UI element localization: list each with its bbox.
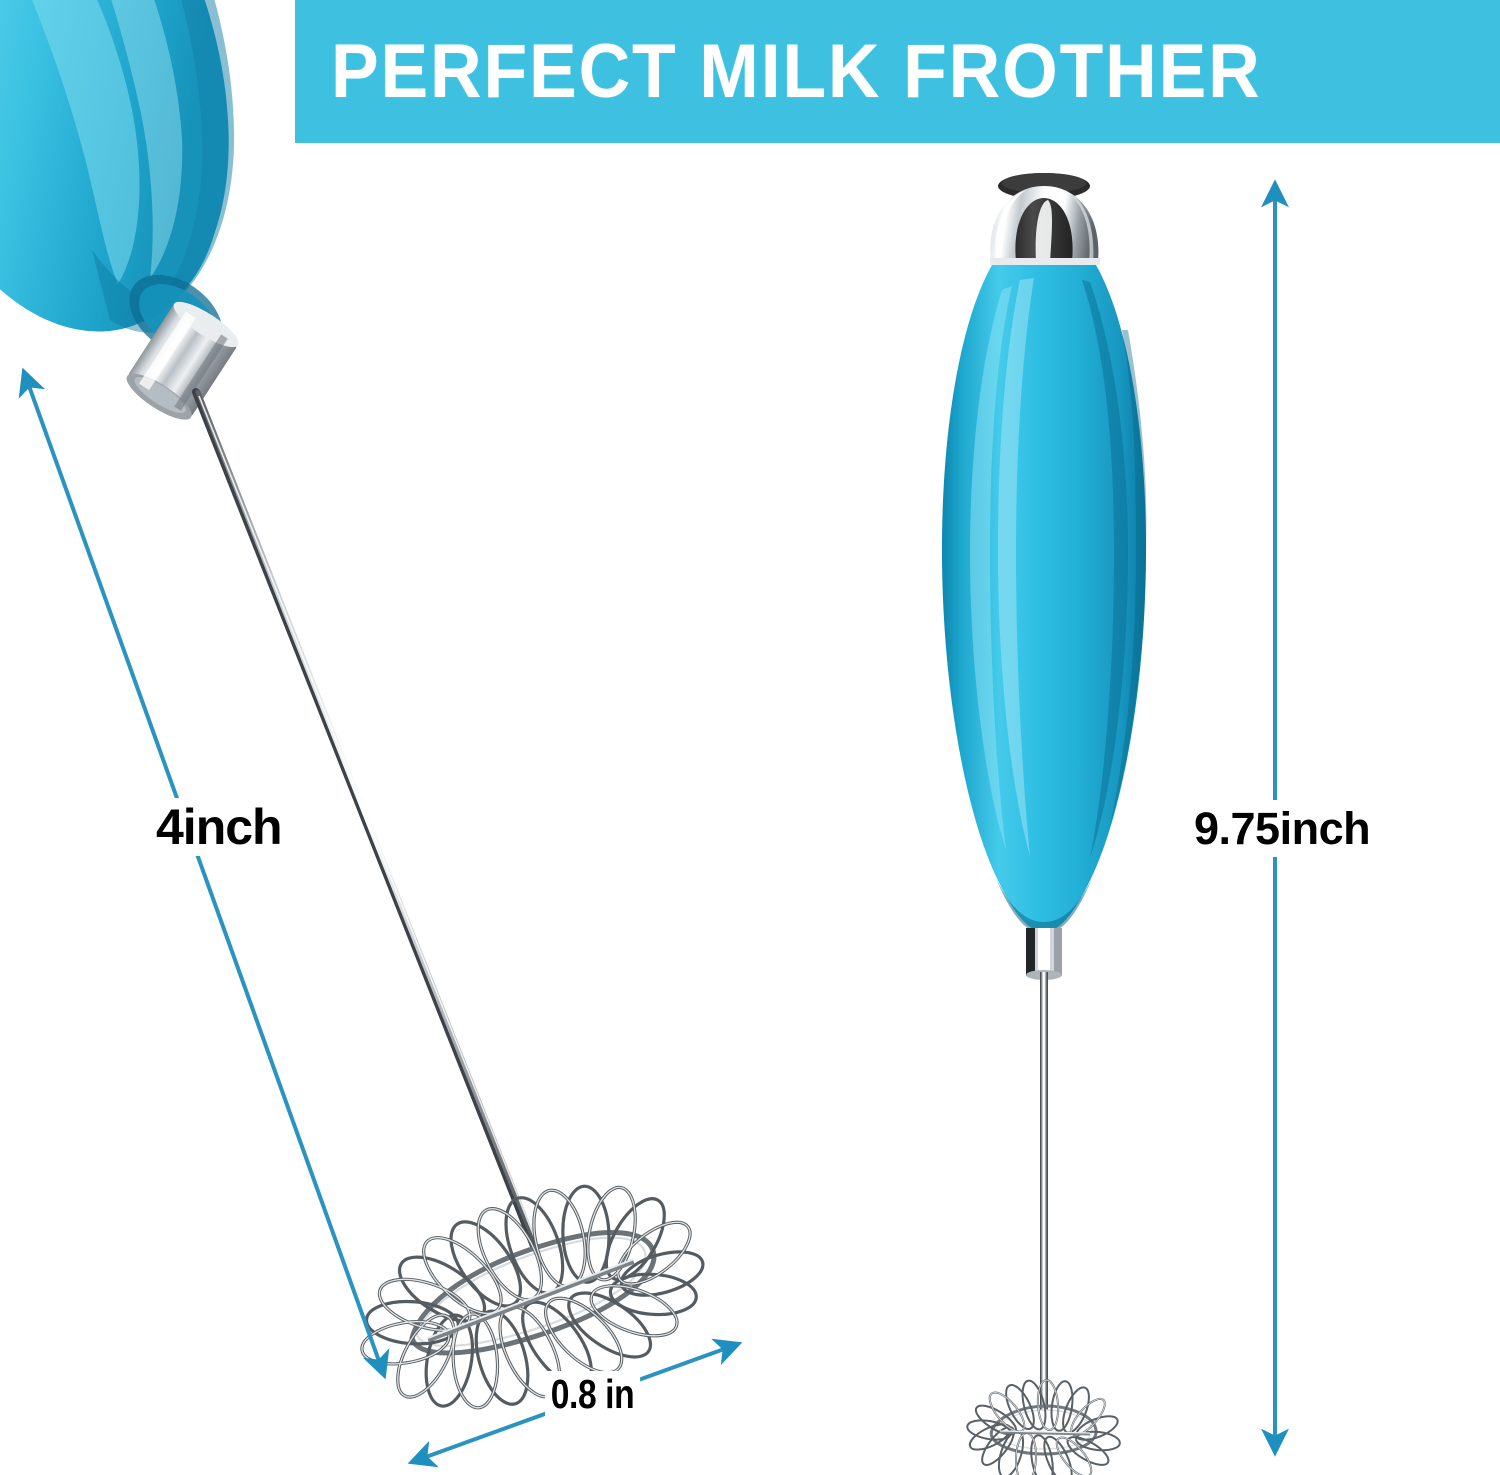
left-whisk-head <box>326 1137 736 1465</box>
left-frother-illustration <box>0 0 1500 1475</box>
product-infographic: PERFECT MILK FROTHER 4inch 9.75inch 0.8 … <box>0 0 1500 1475</box>
left-handle-body <box>0 0 238 374</box>
right-whisk-head <box>966 1378 1121 1475</box>
left-ferrule <box>121 295 244 428</box>
right-frother-cap <box>990 173 1100 265</box>
dimension-arrow-4inch <box>24 372 384 1375</box>
page-title: PERFECT MILK FROTHER <box>331 34 1262 110</box>
dimension-label-whisk-diameter: 0.8 in <box>545 1371 640 1418</box>
header-banner: PERFECT MILK FROTHER <box>295 0 1500 143</box>
right-handle-body <box>942 265 1146 934</box>
right-frother-illustration <box>0 0 1500 1475</box>
dimension-label-whisk-length: 4inch <box>148 798 290 856</box>
dimension-label-total-length: 9.75inch <box>1186 800 1378 857</box>
right-ferrule <box>1026 928 1062 980</box>
right-whisk-shaft <box>1040 972 1048 1410</box>
measurement-arrows <box>0 0 1500 1475</box>
